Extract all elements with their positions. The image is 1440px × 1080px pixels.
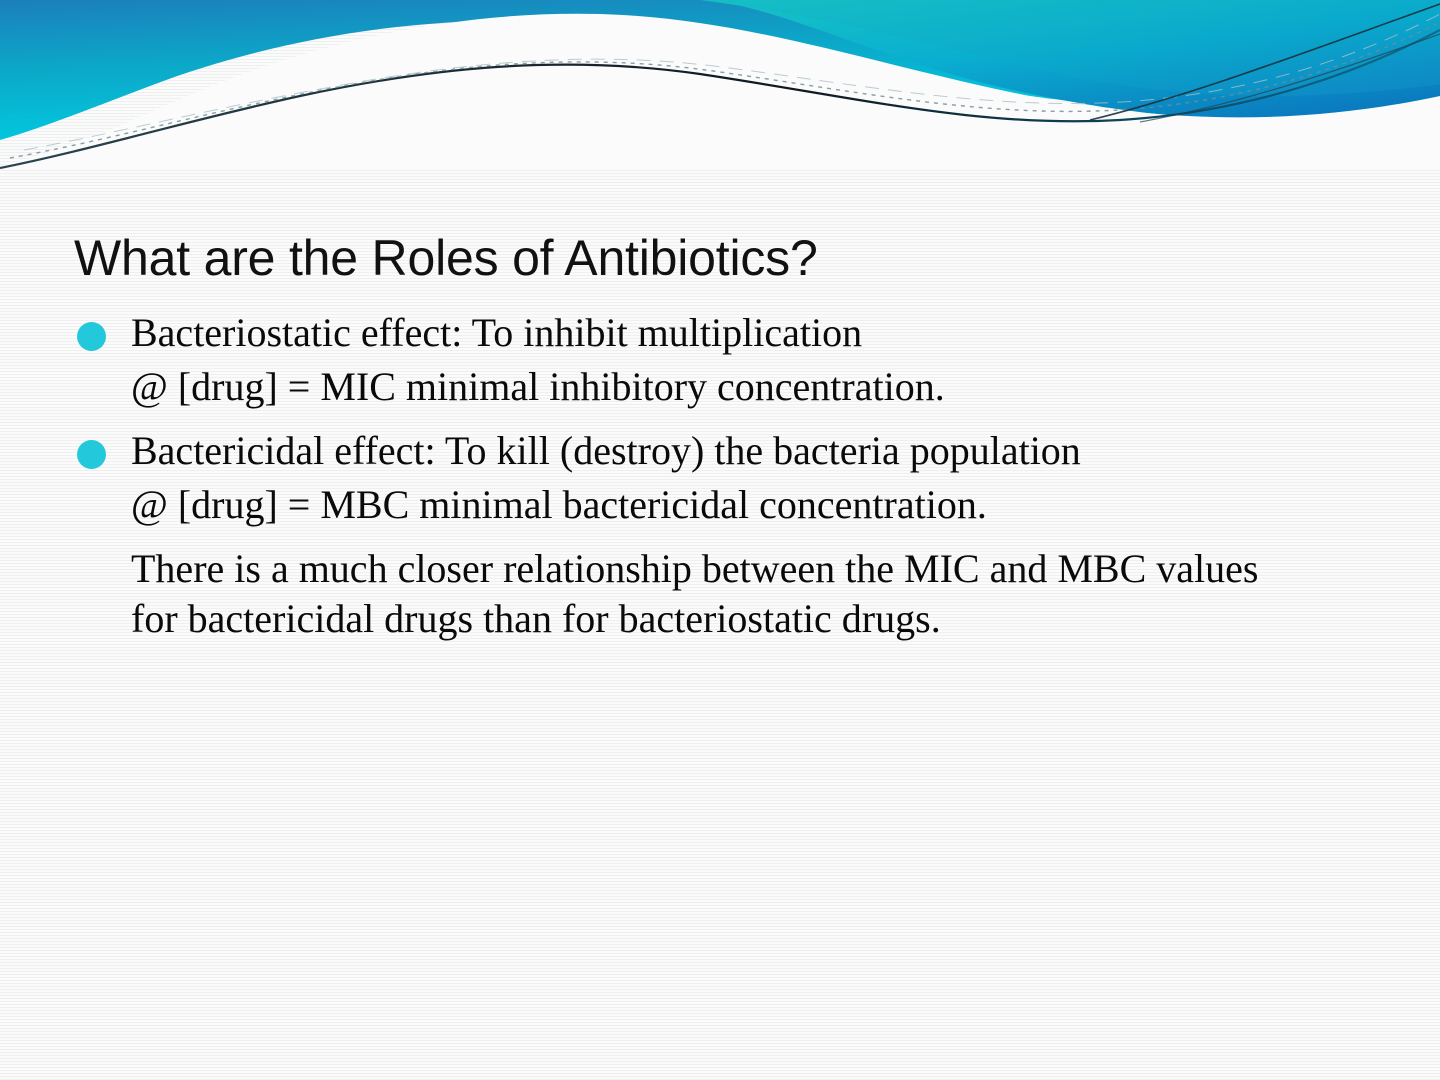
spacer	[74, 416, 1374, 426]
page-title: What are the Roles of Antibiotics?	[74, 230, 1364, 286]
body-text-block: Bacteriostatic effect: To inhibit multip…	[74, 308, 1374, 644]
list-item-label: Bactericidal effect: To kill (destroy) t…	[131, 426, 1374, 476]
filled-circle-bullet-icon	[77, 322, 106, 351]
slide-content: What are the Roles of Antibiotics? Bacte…	[0, 0, 1440, 1080]
list-item-continuation: @ [drug] = MIC minimal inhibitory concen…	[74, 362, 1374, 412]
list-item: Bacteriostatic effect: To inhibit multip…	[74, 308, 1374, 358]
list-item: Bactericidal effect: To kill (destroy) t…	[74, 426, 1374, 476]
closing-paragraph: There is a much closer relationship betw…	[74, 544, 1311, 644]
spacer	[74, 534, 1374, 544]
filled-circle-bullet-icon	[77, 440, 106, 469]
slide-canvas: What are the Roles of Antibiotics? Bacte…	[0, 0, 1440, 1080]
list-item-label: Bacteriostatic effect: To inhibit multip…	[131, 308, 1374, 358]
list-item-continuation: @ [drug] = MBC minimal bactericidal conc…	[74, 480, 1374, 530]
